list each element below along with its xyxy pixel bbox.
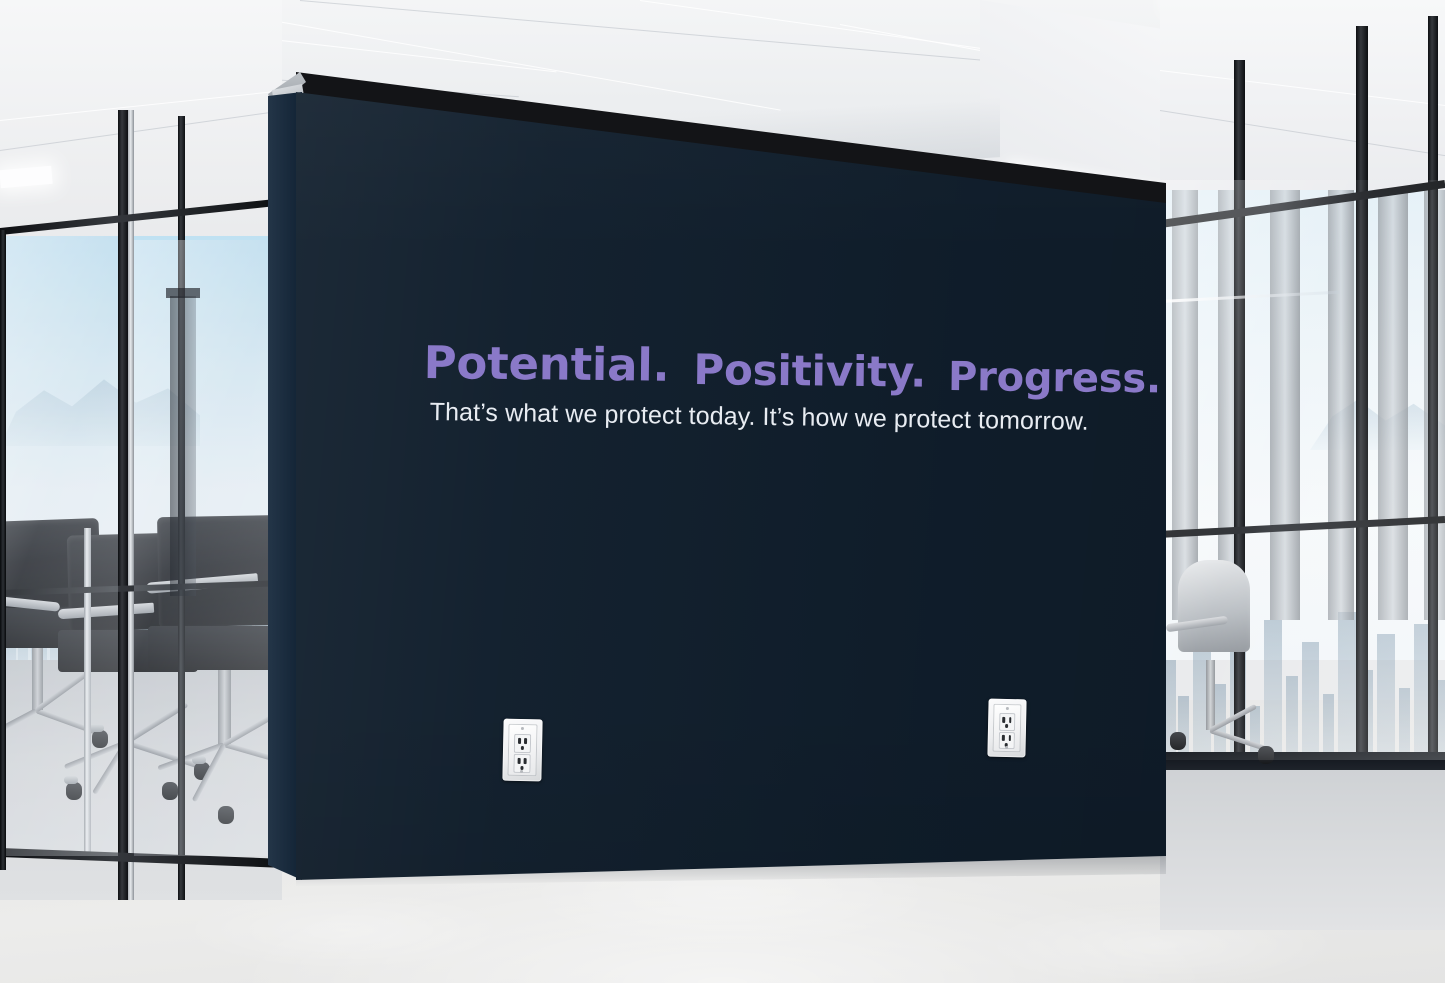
office-wall-mockup-scene: Potential.Positivity.Progress. That’s wh… <box>0 0 1445 983</box>
outlet-left-plate <box>508 724 537 777</box>
outlet-right-recep-top[interactable] <box>999 713 1015 731</box>
outlet-right-plate <box>993 703 1021 752</box>
outlet-left-recep-top[interactable] <box>514 734 531 753</box>
left-door-jamb <box>0 230 6 870</box>
wall-outlet-left[interactable] <box>502 719 542 782</box>
wall-outlet-right[interactable] <box>987 699 1026 758</box>
blue-feature-wall: Potential.Positivity.Progress. That’s wh… <box>0 0 1445 983</box>
